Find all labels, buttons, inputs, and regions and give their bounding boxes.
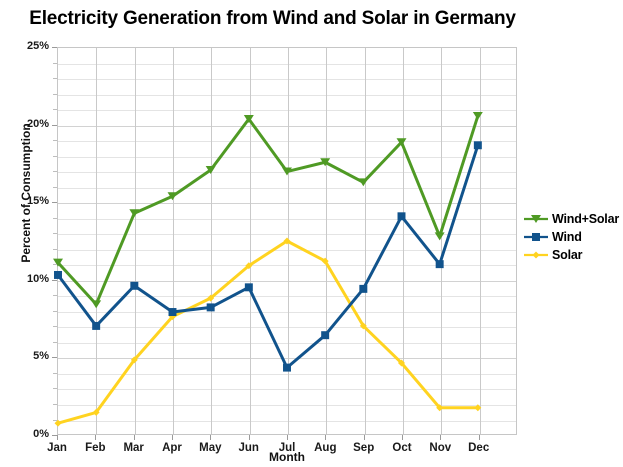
x-tick-mark <box>287 435 288 440</box>
data-point-marker <box>533 252 540 259</box>
data-point-marker <box>474 141 482 149</box>
legend-swatch <box>523 230 549 244</box>
data-point-marker <box>55 420 62 427</box>
y-axis-title: Percent of Consumption <box>19 83 33 303</box>
series-line <box>58 116 478 304</box>
data-point-marker <box>532 233 540 241</box>
data-point-marker <box>358 178 368 186</box>
legend-swatch <box>523 248 549 262</box>
x-tick-mark <box>249 435 250 440</box>
plot-area <box>57 47 517 435</box>
x-tick-mark <box>172 435 173 440</box>
data-point-marker <box>398 212 406 220</box>
legend-label: Wind+Solar <box>552 212 619 226</box>
x-tick-mark <box>402 435 403 440</box>
x-tick-mark <box>57 435 58 440</box>
x-tick-mark <box>210 435 211 440</box>
data-point-marker <box>91 300 101 308</box>
legend-item-wind-solar[interactable]: Wind+Solar <box>523 210 623 228</box>
legend-label: Wind <box>552 230 582 244</box>
series-layer <box>58 48 516 434</box>
legend-item-solar[interactable]: Solar <box>523 246 623 264</box>
data-point-marker <box>473 112 483 120</box>
y-tick-label: 5% <box>5 350 49 362</box>
x-tick-mark <box>440 435 441 440</box>
x-tick-mark <box>134 435 135 440</box>
data-point-marker <box>54 271 62 279</box>
data-point-marker <box>435 232 445 240</box>
x-tick-mark <box>479 435 480 440</box>
x-tick-mark <box>325 435 326 440</box>
y-tick-mark <box>52 435 57 436</box>
chart-title: Electricity Generation from Wind and Sol… <box>0 8 545 30</box>
x-tick-mark <box>95 435 96 440</box>
y-tick-label: 0% <box>5 428 49 440</box>
data-point-marker <box>283 364 291 372</box>
data-point-marker <box>207 303 215 311</box>
series-wind <box>54 141 482 371</box>
x-tick-mark <box>364 435 365 440</box>
data-point-marker <box>359 285 367 293</box>
data-point-marker <box>474 404 481 411</box>
data-point-marker <box>130 282 138 290</box>
chart-container: Electricity Generation from Wind and Sol… <box>0 0 623 467</box>
chart-legend: Wind+SolarWindSolar <box>523 210 623 264</box>
legend-label: Solar <box>552 248 582 262</box>
x-axis-title: Month <box>57 450 517 464</box>
series-wind-solar <box>53 112 483 308</box>
data-point-marker <box>436 260 444 268</box>
data-point-marker <box>169 308 177 316</box>
data-point-marker <box>92 322 100 330</box>
data-point-marker <box>321 331 329 339</box>
data-point-marker <box>245 283 253 291</box>
y-tick-label: 25% <box>5 40 49 52</box>
series-solar <box>55 238 482 427</box>
series-line <box>58 241 478 423</box>
legend-swatch <box>523 212 549 226</box>
legend-item-wind[interactable]: Wind <box>523 228 623 246</box>
